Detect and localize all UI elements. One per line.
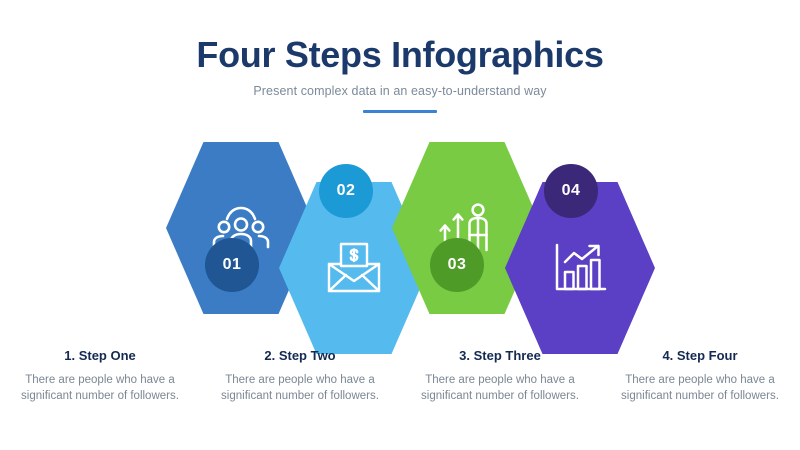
step-badge-2-label: 02 xyxy=(337,182,356,200)
step-caption-2-title: 2. Step Two xyxy=(206,348,394,364)
step-caption-2-body: There are people who have a significant … xyxy=(206,372,394,405)
step-caption-3-body: There are people who have a significant … xyxy=(406,372,594,405)
step-caption-4-body: There are people who have a significant … xyxy=(606,372,794,405)
step-badge-3: 03 xyxy=(430,238,484,292)
page-title: Four Steps Infographics xyxy=(0,0,800,75)
step-caption-1-body: There are people who have a significant … xyxy=(6,372,194,405)
step-caption-4-title: 4. Step Four xyxy=(606,348,794,364)
step-hexagon-4[interactable]: 04 xyxy=(505,182,655,354)
step-badge-4: 04 xyxy=(544,164,598,218)
steps-hexagon-band: 01 02 xyxy=(0,130,800,335)
step-badge-1: 01 xyxy=(205,238,259,292)
step-caption-1: 1. Step One There are people who have a … xyxy=(0,348,200,404)
step-caption-2: 2. Step Two There are people who have a … xyxy=(200,348,400,404)
page-subtitle: Present complex data in an easy-to-under… xyxy=(0,75,800,98)
step-badge-3-label: 03 xyxy=(448,256,467,274)
step-badge-4-label: 04 xyxy=(562,182,581,200)
step-caption-3-title: 3. Step Three xyxy=(406,348,594,364)
step-caption-3: 3. Step Three There are people who have … xyxy=(400,348,600,404)
step-captions: 1. Step One There are people who have a … xyxy=(0,348,800,404)
step-badge-2: 02 xyxy=(319,164,373,218)
step-badge-1-label: 01 xyxy=(223,256,242,274)
header: Four Steps Infographics Present complex … xyxy=(0,0,800,113)
step-caption-1-title: 1. Step One xyxy=(6,348,194,364)
step-caption-4: 4. Step Four There are people who have a… xyxy=(600,348,800,404)
title-divider xyxy=(363,110,437,113)
